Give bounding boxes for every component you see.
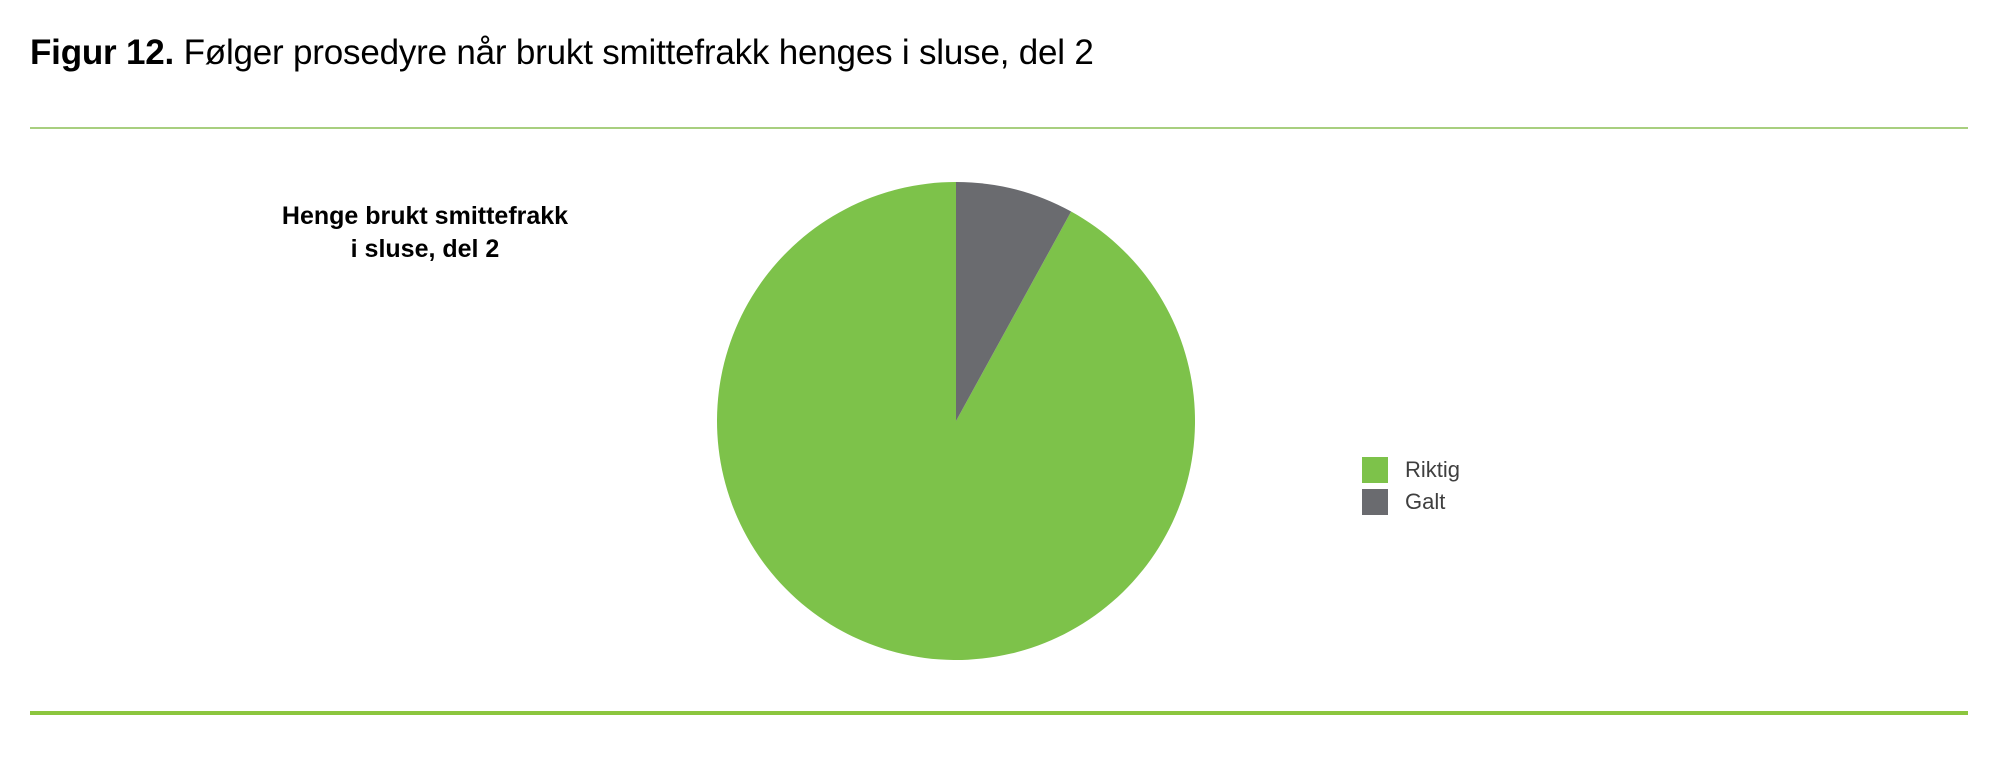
pie-graphic [715, 180, 1197, 662]
legend-swatch-riktig [1362, 457, 1388, 483]
category-label: Henge brukt smittefrakk i sluse, del 2 [215, 200, 635, 266]
legend-label-riktig: Riktig [1405, 457, 1460, 483]
legend-swatch-galt [1362, 489, 1388, 515]
legend-item-riktig[interactable]: Riktig [1362, 455, 1622, 485]
pie-slice-group [717, 182, 1195, 660]
top-divider-rule [30, 127, 1968, 129]
page-title: Figur 12. Følger prosedyre når brukt smi… [30, 30, 1970, 76]
category-label-line-2: i sluse, del 2 [215, 233, 635, 266]
chart-legend: Riktig Galt [1362, 455, 1622, 519]
figure-caption: Følger prosedyre når brukt smittefrakk h… [184, 33, 1094, 72]
bottom-divider-rule [30, 711, 1968, 715]
category-label-line-1: Henge brukt smittefrakk [215, 200, 635, 233]
figure-number: Figur 12. [30, 33, 174, 72]
pie-chart: Henge brukt smittefrakk i sluse, del 2 R… [0, 130, 2000, 708]
legend-item-galt[interactable]: Galt [1362, 487, 1622, 517]
legend-label-galt: Galt [1405, 489, 1445, 515]
